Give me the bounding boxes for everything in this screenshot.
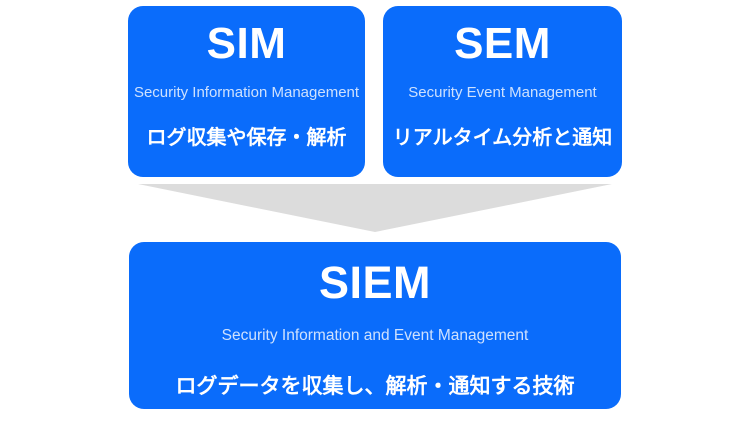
card-siem: SIEM Security Information and Event Mana… [129, 242, 621, 409]
card-siem-expansion: Security Information and Event Managemen… [222, 327, 529, 346]
card-sim: SIM Security Information Management ログ収集… [128, 6, 365, 177]
arrow-down-icon [138, 184, 612, 232]
arrow-down-shape [138, 184, 612, 232]
card-sim-tagline: ログ収集や保存・解析 [147, 126, 347, 150]
card-sem-tagline: リアルタイム分析と通知 [393, 126, 612, 150]
card-siem-acronym: SIEM [319, 260, 431, 305]
card-sem-expansion: Security Event Management [408, 84, 596, 102]
card-siem-tagline: ログデータを収集し、解析・通知する技術 [176, 374, 575, 399]
siem-concept-diagram: SIM Security Information Management ログ収集… [0, 0, 750, 422]
card-sem-acronym: SEM [454, 22, 551, 66]
card-sim-acronym: SIM [207, 22, 287, 66]
card-sim-expansion: Security Information Management [134, 84, 359, 102]
card-sem: SEM Security Event Management リアルタイム分析と通… [383, 6, 622, 177]
